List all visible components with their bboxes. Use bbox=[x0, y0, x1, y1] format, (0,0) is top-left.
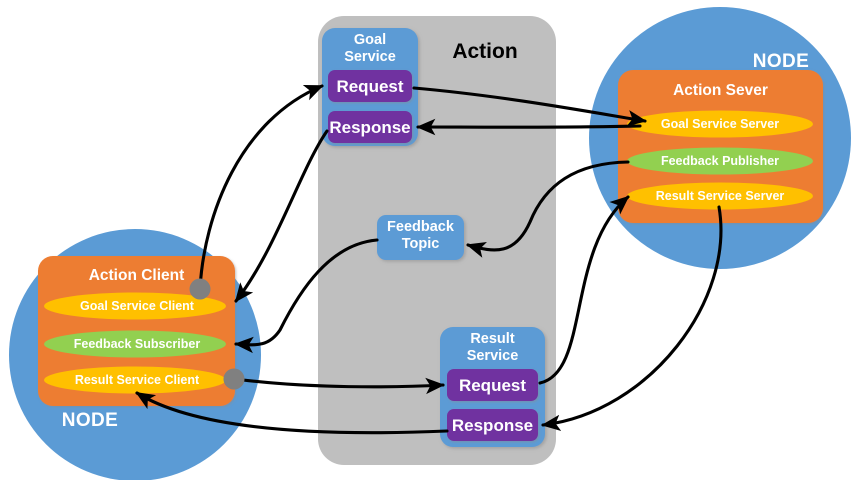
goal-service-client-label[interactable]: Goal Service Client bbox=[46, 299, 228, 313]
feedback-publisher-label[interactable]: Feedback Publisher bbox=[627, 154, 813, 168]
labels-layer: Action Goal Service Request Response Fee… bbox=[0, 0, 854, 480]
result-request-label: Request bbox=[447, 376, 538, 395]
server-node-label: NODE bbox=[735, 51, 827, 72]
action-client-title: Action Client bbox=[38, 267, 235, 284]
result-service-title-line2: Service bbox=[440, 348, 545, 364]
goal-service-title-line1: Goal bbox=[322, 32, 418, 48]
goal-service-server-label[interactable]: Goal Service Server bbox=[627, 117, 813, 131]
result-service-title-line1: Result bbox=[440, 331, 545, 347]
goal-request-label: Request bbox=[328, 77, 412, 96]
diagram-canvas: Action Goal Service Request Response Fee… bbox=[0, 0, 854, 480]
feedback-topic-title-line1: Feedback bbox=[377, 219, 464, 235]
result-response-label: Response bbox=[447, 416, 538, 435]
client-node-label: NODE bbox=[44, 410, 136, 431]
feedback-topic-title-line2: Topic bbox=[377, 236, 464, 252]
action-server-title: Action Sever bbox=[618, 82, 823, 99]
goal-response-label: Response bbox=[328, 118, 412, 137]
result-service-server-label[interactable]: Result Service Server bbox=[627, 189, 813, 203]
action-panel-title: Action bbox=[435, 40, 535, 64]
feedback-subscriber-label[interactable]: Feedback Subscriber bbox=[46, 337, 228, 351]
result-service-client-label[interactable]: Result Service Client bbox=[46, 373, 228, 387]
goal-service-title-line2: Service bbox=[322, 49, 418, 65]
